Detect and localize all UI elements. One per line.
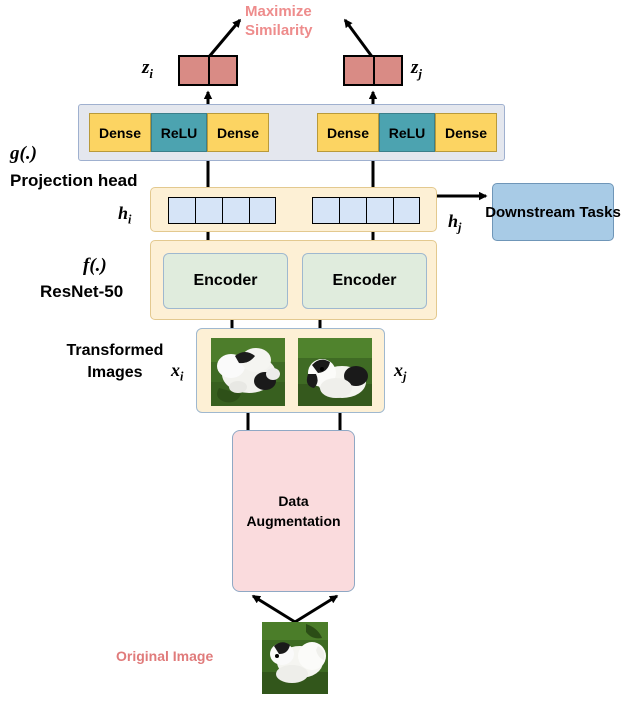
z-i-vector	[178, 55, 238, 86]
transformed-images-label-line2: Images	[87, 364, 142, 381]
z-j-cell	[373, 57, 401, 84]
x-j-label: xj	[394, 360, 406, 385]
relu-layer-right: ReLU	[379, 113, 435, 152]
projection-head-label: Projection head	[10, 171, 138, 191]
relu-layer-left: ReLU	[151, 113, 207, 152]
transformed-images-label-line1: Transformed	[67, 342, 164, 359]
f-function-label: f(.)	[83, 255, 107, 277]
data-augmentation-line2: Augmentation	[246, 513, 340, 529]
maximize-similarity-annotation: Maximize Similarity	[245, 2, 365, 40]
projection-head-container: Dense ReLU Dense Dense ReLU Dense	[78, 104, 505, 161]
transformed-image-xi	[211, 338, 285, 406]
dense-layer-2-right: Dense	[435, 113, 497, 152]
encoder-right: Encoder	[302, 253, 427, 309]
encoder-left: Encoder	[163, 253, 288, 309]
z-i-cell	[180, 57, 208, 84]
projection-head-left-branch: Dense ReLU Dense	[89, 113, 269, 152]
h-j-cell	[312, 197, 339, 224]
resnet50-label: ResNet-50	[40, 282, 123, 302]
z-j-vector	[343, 55, 403, 86]
h-i-cell	[222, 197, 249, 224]
data-augmentation-box: Data Augmentation	[232, 430, 355, 592]
z-j-cell	[345, 57, 373, 84]
dense-layer-2-left: Dense	[207, 113, 269, 152]
x-i-label: xi	[171, 360, 183, 385]
h-j-label: hj	[448, 211, 461, 236]
h-j-cell	[339, 197, 366, 224]
h-i-vector	[168, 197, 276, 224]
z-j-label: zj	[411, 57, 422, 82]
data-augmentation-line1: Data	[278, 493, 308, 509]
g-function-label: g(.)	[10, 143, 37, 165]
h-j-cell	[393, 197, 420, 224]
transformed-image-xj	[298, 338, 372, 406]
transformed-images-container	[196, 328, 385, 413]
h-i-label: hi	[118, 203, 131, 228]
transformed-images-label: Transformed Images	[45, 340, 185, 384]
projection-head-right-branch: Dense ReLU Dense	[317, 113, 497, 152]
representation-row-container	[150, 187, 437, 232]
downstream-tasks-box: Downstream Tasks	[492, 183, 614, 241]
h-i-cell	[249, 197, 276, 224]
dense-layer-1-left: Dense	[89, 113, 151, 152]
h-j-vector	[312, 197, 420, 224]
original-image-thumbnail	[262, 622, 328, 694]
h-j-cell	[366, 197, 393, 224]
downstream-tasks-line2: Tasks	[579, 203, 620, 222]
z-i-label: zi	[142, 57, 153, 82]
original-image-label: Original Image	[116, 648, 256, 664]
downstream-tasks-line1: Downstream	[485, 203, 575, 222]
encoder-row-container: Encoder Encoder	[150, 240, 437, 320]
dense-layer-1-right: Dense	[317, 113, 379, 152]
z-i-cell	[208, 57, 236, 84]
h-i-cell	[195, 197, 222, 224]
h-i-cell	[168, 197, 195, 224]
